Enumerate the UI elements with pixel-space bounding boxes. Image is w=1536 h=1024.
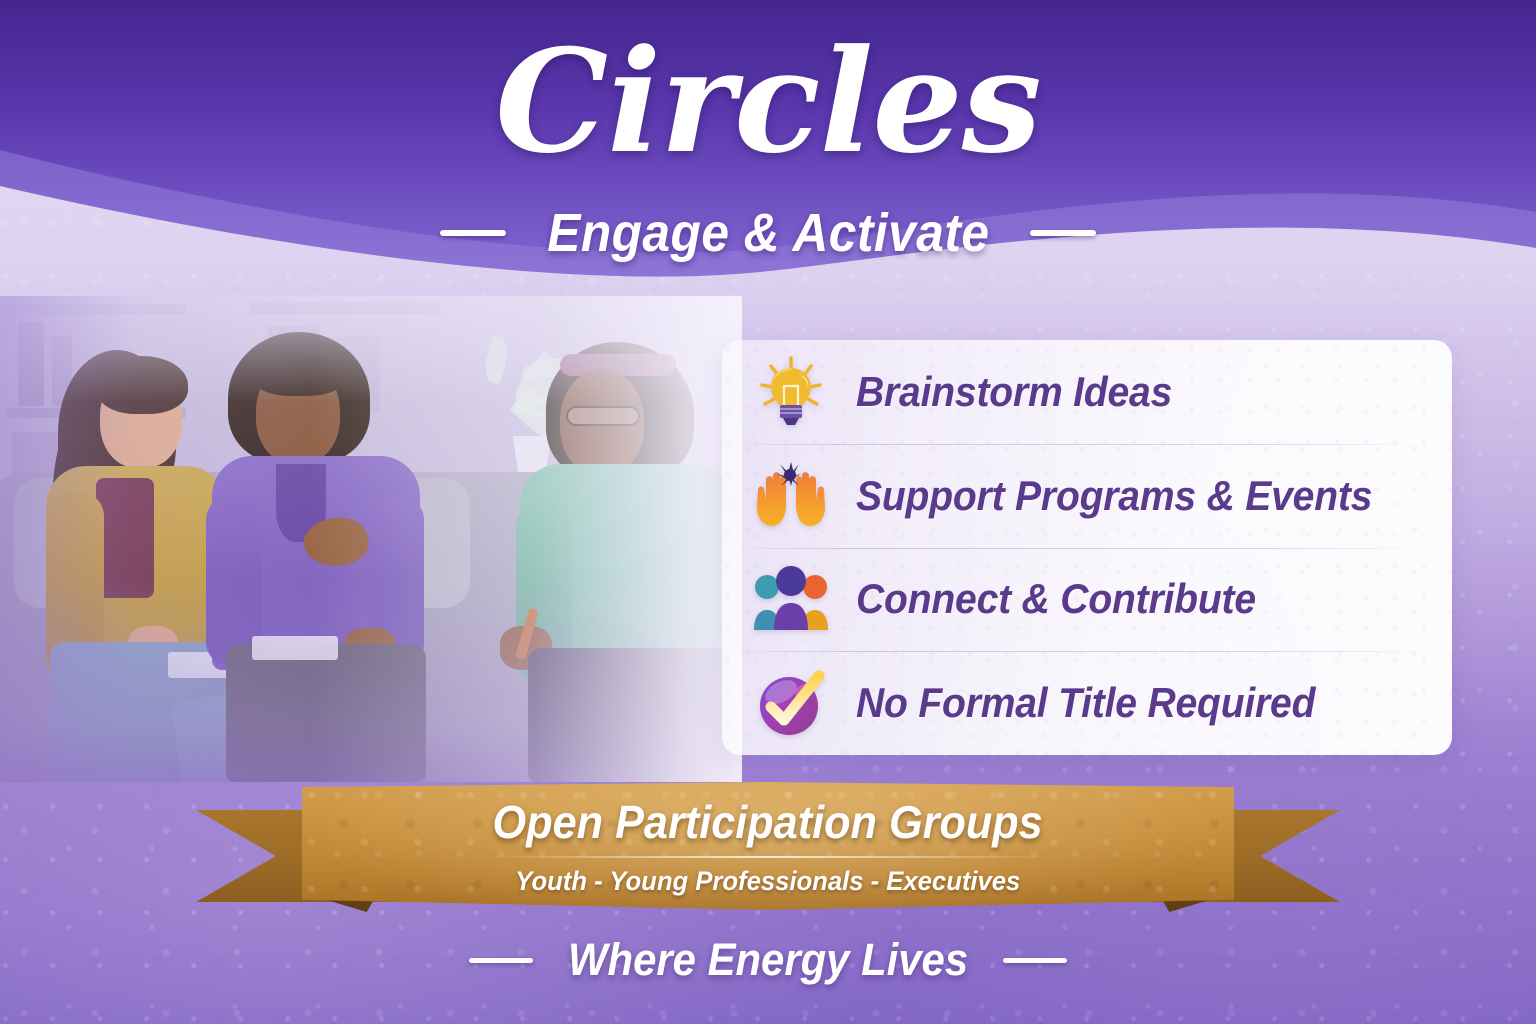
- ribbon-band: Open Participation Groups Youth - Young …: [302, 782, 1234, 910]
- photo-fade-overlay: [0, 296, 742, 782]
- poster-canvas: Circles Engage & Activate: [0, 0, 1536, 1024]
- raising-hands-icon: [748, 453, 834, 539]
- footer-dash-right: [1003, 958, 1067, 963]
- feature-row-no-title[interactable]: No Formal Title Required: [722, 651, 1452, 755]
- conversation-photo: [0, 296, 742, 782]
- banner-subtitle: Youth - Young Professionals - Executives: [515, 866, 1020, 897]
- footer-dash-left: [469, 958, 533, 963]
- subtitle-row: Engage & Activate: [0, 202, 1536, 264]
- page-title: Circles: [0, 28, 1536, 177]
- feature-label: Brainstorm Ideas: [856, 368, 1172, 416]
- feature-row-brainstorm[interactable]: Brainstorm Ideas: [722, 340, 1452, 444]
- feature-card: Brainstorm Ideas: [722, 340, 1452, 755]
- footer-tagline: Where Energy Lives: [568, 934, 968, 986]
- check-circle-icon: [748, 660, 834, 746]
- banner-divider: [488, 856, 1048, 858]
- subtitle-dash-left: [440, 230, 506, 236]
- subtitle-dash-right: [1030, 230, 1096, 236]
- feature-row-connect[interactable]: Connect & Contribute: [722, 548, 1452, 652]
- feature-label: No Formal Title Required: [856, 679, 1315, 727]
- banner-title: Open Participation Groups: [493, 795, 1043, 849]
- participation-banner: Open Participation Groups Youth - Young …: [196, 782, 1340, 932]
- lightbulb-icon: [748, 349, 834, 435]
- people-group-icon: [748, 556, 834, 642]
- feature-label: Connect & Contribute: [856, 575, 1256, 623]
- feature-label: Support Programs & Events: [856, 472, 1372, 520]
- feature-list: Brainstorm Ideas: [722, 340, 1452, 755]
- page-subtitle: Engage & Activate: [547, 202, 989, 264]
- feature-row-support[interactable]: Support Programs & Events: [722, 444, 1452, 548]
- footer-row: Where Energy Lives: [0, 934, 1536, 986]
- ribbon-text-block: Open Participation Groups Youth - Young …: [302, 782, 1234, 910]
